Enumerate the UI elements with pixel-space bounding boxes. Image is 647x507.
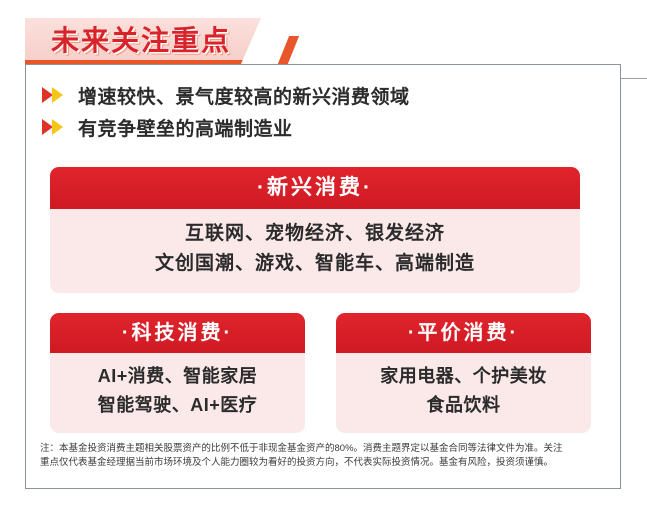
card-body-line: 文创国潮、游戏、智能车、高端制造 (50, 249, 580, 279)
card-body: AI+消费、智能家居 智能驾驶、AI+医疗 (50, 353, 305, 433)
card-body-line: AI+消费、智能家居 (50, 362, 305, 391)
card-body-line: 智能驾驶、AI+医疗 (50, 391, 305, 420)
disclaimer-note: 注：本基金投资消费主题相关股票资产的比例不低于非现金基金资产的80%。消费主题界… (40, 442, 610, 470)
card-body: 家用电器、个护美妆 食品饮料 (336, 353, 591, 433)
card-header-title: ·科技消费· (50, 313, 305, 353)
list-item: 有竞争壁垒的高端制造业 (42, 111, 620, 143)
double-chevron-right-icon (42, 87, 68, 103)
card-emerging-consumption: ·新兴消费· 互联网、宠物经济、银发经济 文创国潮、游戏、智能车、高端制造 (50, 167, 580, 293)
card-body-line: 家用电器、个护美妆 (336, 362, 591, 391)
card-value-consumption: ·平价消费· 家用电器、个护美妆 食品饮料 (336, 313, 591, 433)
card-body-line: 互联网、宠物经济、银发经济 (50, 219, 580, 249)
list-item-label: 增速较快、景气度较高的新兴消费领域 (78, 82, 410, 109)
disclaimer-line: 重点仅代表基金经理据当前市场环境及个人能力圈较为看好的投资方向，不代表实际投资情… (40, 456, 610, 470)
card-body: 互联网、宠物经济、银发经济 文创国潮、游戏、智能车、高端制造 (50, 209, 580, 293)
card-body-line: 食品饮料 (336, 391, 591, 420)
disclaimer-line: 注：本基金投资消费主题相关股票资产的比例不低于非现金基金资产的80%。消费主题界… (40, 442, 610, 456)
list-item-label: 有竞争壁垒的高端制造业 (78, 114, 293, 141)
card-header-title: ·平价消费· (336, 313, 591, 353)
page-title: 未来关注重点 (51, 25, 231, 56)
title-banner: 未来关注重点 (25, 18, 261, 64)
banner-row: 未来关注重点 (25, 18, 625, 64)
card-tech-consumption: ·科技消费· AI+消费、智能家居 智能驾驶、AI+医疗 (50, 313, 305, 433)
content-panel: 增速较快、景气度较高的新兴消费领域 有竞争壁垒的高端制造业 ·新兴消费· 互联网… (25, 64, 621, 489)
card-header-title: ·新兴消费· (50, 167, 580, 209)
list-item: 增速较快、景气度较高的新兴消费领域 (42, 79, 620, 111)
double-chevron-right-icon (42, 119, 68, 135)
highlight-list: 增速较快、景气度较高的新兴消费领域 有竞争壁垒的高端制造业 (26, 65, 620, 143)
